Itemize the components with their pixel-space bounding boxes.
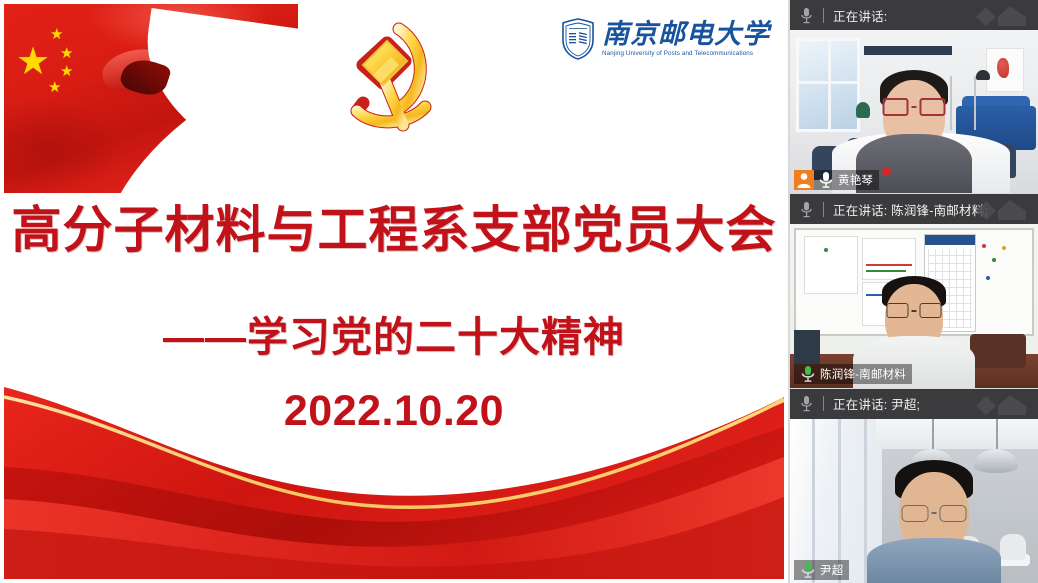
meeting-screen-share-view: ★ ★ ★ ★ ★ bbox=[0, 0, 1038, 583]
video-tile-header: 正在讲话: 尹超; bbox=[790, 389, 1038, 419]
university-logo: 南京邮电大学 Nanjing University of Posts and T… bbox=[561, 12, 770, 66]
video-tile[interactable]: 正在讲话: bbox=[790, 0, 1038, 193]
shared-slide: ★ ★ ★ ★ ★ bbox=[0, 0, 790, 583]
slide-wave-decoration bbox=[4, 379, 784, 579]
university-shield-icon bbox=[561, 18, 595, 60]
university-name-en: Nanjing University of Posts and Telecomm… bbox=[602, 51, 770, 57]
microphone-icon bbox=[800, 561, 816, 579]
participant-name: 黄艳琴 bbox=[838, 172, 873, 188]
video-tile-header: 正在讲话: bbox=[790, 0, 1038, 30]
participant-name-badge: 黄艳琴 bbox=[794, 170, 879, 190]
video-scene bbox=[790, 224, 1038, 387]
video-stream[interactable]: 黄艳琴 bbox=[790, 30, 1038, 193]
video-tile-header: 正在讲话: 陈润锋-南邮材料; bbox=[790, 194, 1038, 224]
flag-star-4: ★ bbox=[48, 80, 61, 95]
video-tile[interactable]: 正在讲话: 陈润锋-南邮材料; bbox=[790, 193, 1038, 387]
header-divider bbox=[823, 202, 824, 217]
microphone-icon bbox=[800, 201, 813, 218]
participant-name: 陈润锋-南邮材料 bbox=[820, 366, 906, 382]
slide-subtitle: ——学习党的二十大精神 bbox=[4, 303, 784, 363]
microphone-icon bbox=[800, 365, 816, 383]
speaking-label: 正在讲话: 陈润锋-南邮材料; bbox=[833, 200, 988, 219]
chinese-flag-icon: ★ ★ ★ ★ ★ bbox=[4, 4, 298, 198]
flag-star-large: ★ bbox=[16, 43, 50, 81]
video-scene bbox=[790, 30, 1038, 193]
participant-figure bbox=[866, 460, 1002, 583]
header-divider bbox=[823, 396, 824, 411]
double-chevron-watermark-icon bbox=[974, 393, 1030, 415]
double-chevron-watermark-icon bbox=[974, 198, 1030, 220]
video-tile[interactable]: 正在讲话: 尹超; bbox=[790, 388, 1038, 583]
slide-title: 高分子材料与工程系支部党员大会 bbox=[4, 190, 784, 262]
flag-star-3: ★ bbox=[60, 64, 73, 79]
participant-name-badge: 陈润锋-南邮材料 bbox=[794, 364, 912, 384]
video-stream[interactable]: 陈润锋-南邮材料 bbox=[790, 224, 1038, 387]
microphone-icon bbox=[800, 7, 813, 24]
participant-name-badge: 尹超 bbox=[794, 560, 849, 580]
party-emblem-icon bbox=[330, 12, 450, 147]
flag-star-2: ★ bbox=[60, 46, 73, 61]
microphone-icon bbox=[818, 171, 834, 189]
double-chevron-watermark-icon bbox=[974, 4, 1030, 26]
participant-name: 尹超 bbox=[820, 562, 843, 578]
slide-canvas: ★ ★ ★ ★ ★ bbox=[4, 4, 784, 579]
flag-star-1: ★ bbox=[50, 27, 63, 42]
video-stream[interactable]: 尹超 bbox=[790, 419, 1038, 583]
avatar-person-icon bbox=[794, 170, 814, 190]
microphone-icon bbox=[800, 395, 813, 412]
participant-video-rail: 正在讲话: bbox=[790, 0, 1038, 583]
header-divider bbox=[823, 8, 824, 23]
speaking-label: 正在讲话: 尹超; bbox=[833, 394, 920, 413]
video-scene bbox=[790, 419, 1038, 583]
speaking-label: 正在讲话: bbox=[833, 6, 887, 25]
university-name-cn: 南京邮电大学 bbox=[602, 21, 770, 48]
